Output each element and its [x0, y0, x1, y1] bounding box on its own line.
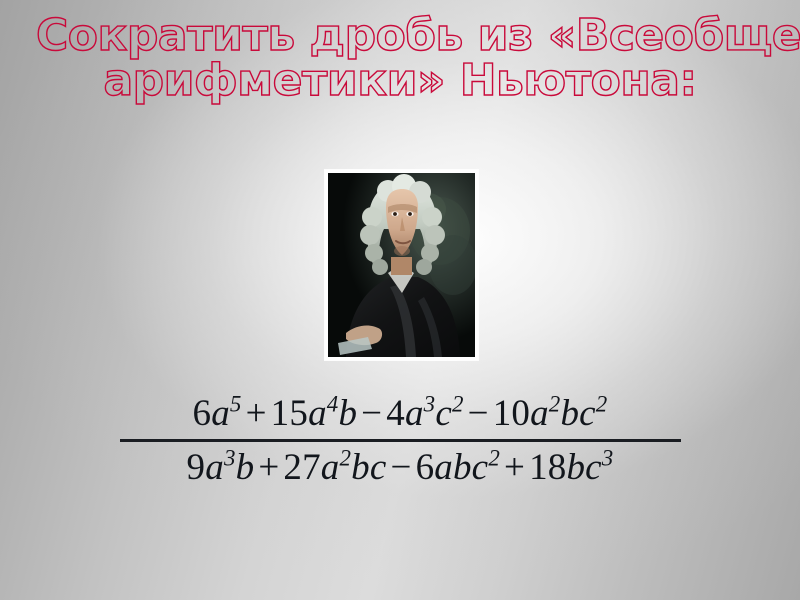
math-expression: 6a5+15a4b−4a3c2−10a2bc2 9a3b+27a2bc−6abc…	[0, 392, 800, 489]
slide-canvas: Сократить дробь из «Всеобщей Сократить д…	[0, 0, 800, 600]
title-line-2: арифметики» Ньютона:	[36, 59, 764, 104]
newton-portrait-svg	[328, 173, 475, 357]
newton-portrait-image	[328, 173, 475, 357]
title-line-2-wrap: арифметики» Ньютона: арифметики» Ньютона…	[36, 59, 764, 104]
title-line-1-wrap: Сократить дробь из «Всеобщей Сократить д…	[36, 14, 764, 59]
fraction-bar	[120, 439, 681, 442]
newton-portrait-frame	[325, 170, 478, 360]
fraction-numerator: 6a5+15a4b−4a3c2−10a2bc2	[120, 392, 681, 437]
fraction-denominator: 9a3b+27a2bc−6abc2+18bc3	[120, 443, 681, 489]
title-line-1: Сократить дробь из «Всеобщей	[36, 14, 764, 59]
slide-title: Сократить дробь из «Всеобщей Сократить д…	[36, 14, 764, 104]
fraction: 6a5+15a4b−4a3c2−10a2bc2 9a3b+27a2bc−6abc…	[120, 392, 681, 489]
